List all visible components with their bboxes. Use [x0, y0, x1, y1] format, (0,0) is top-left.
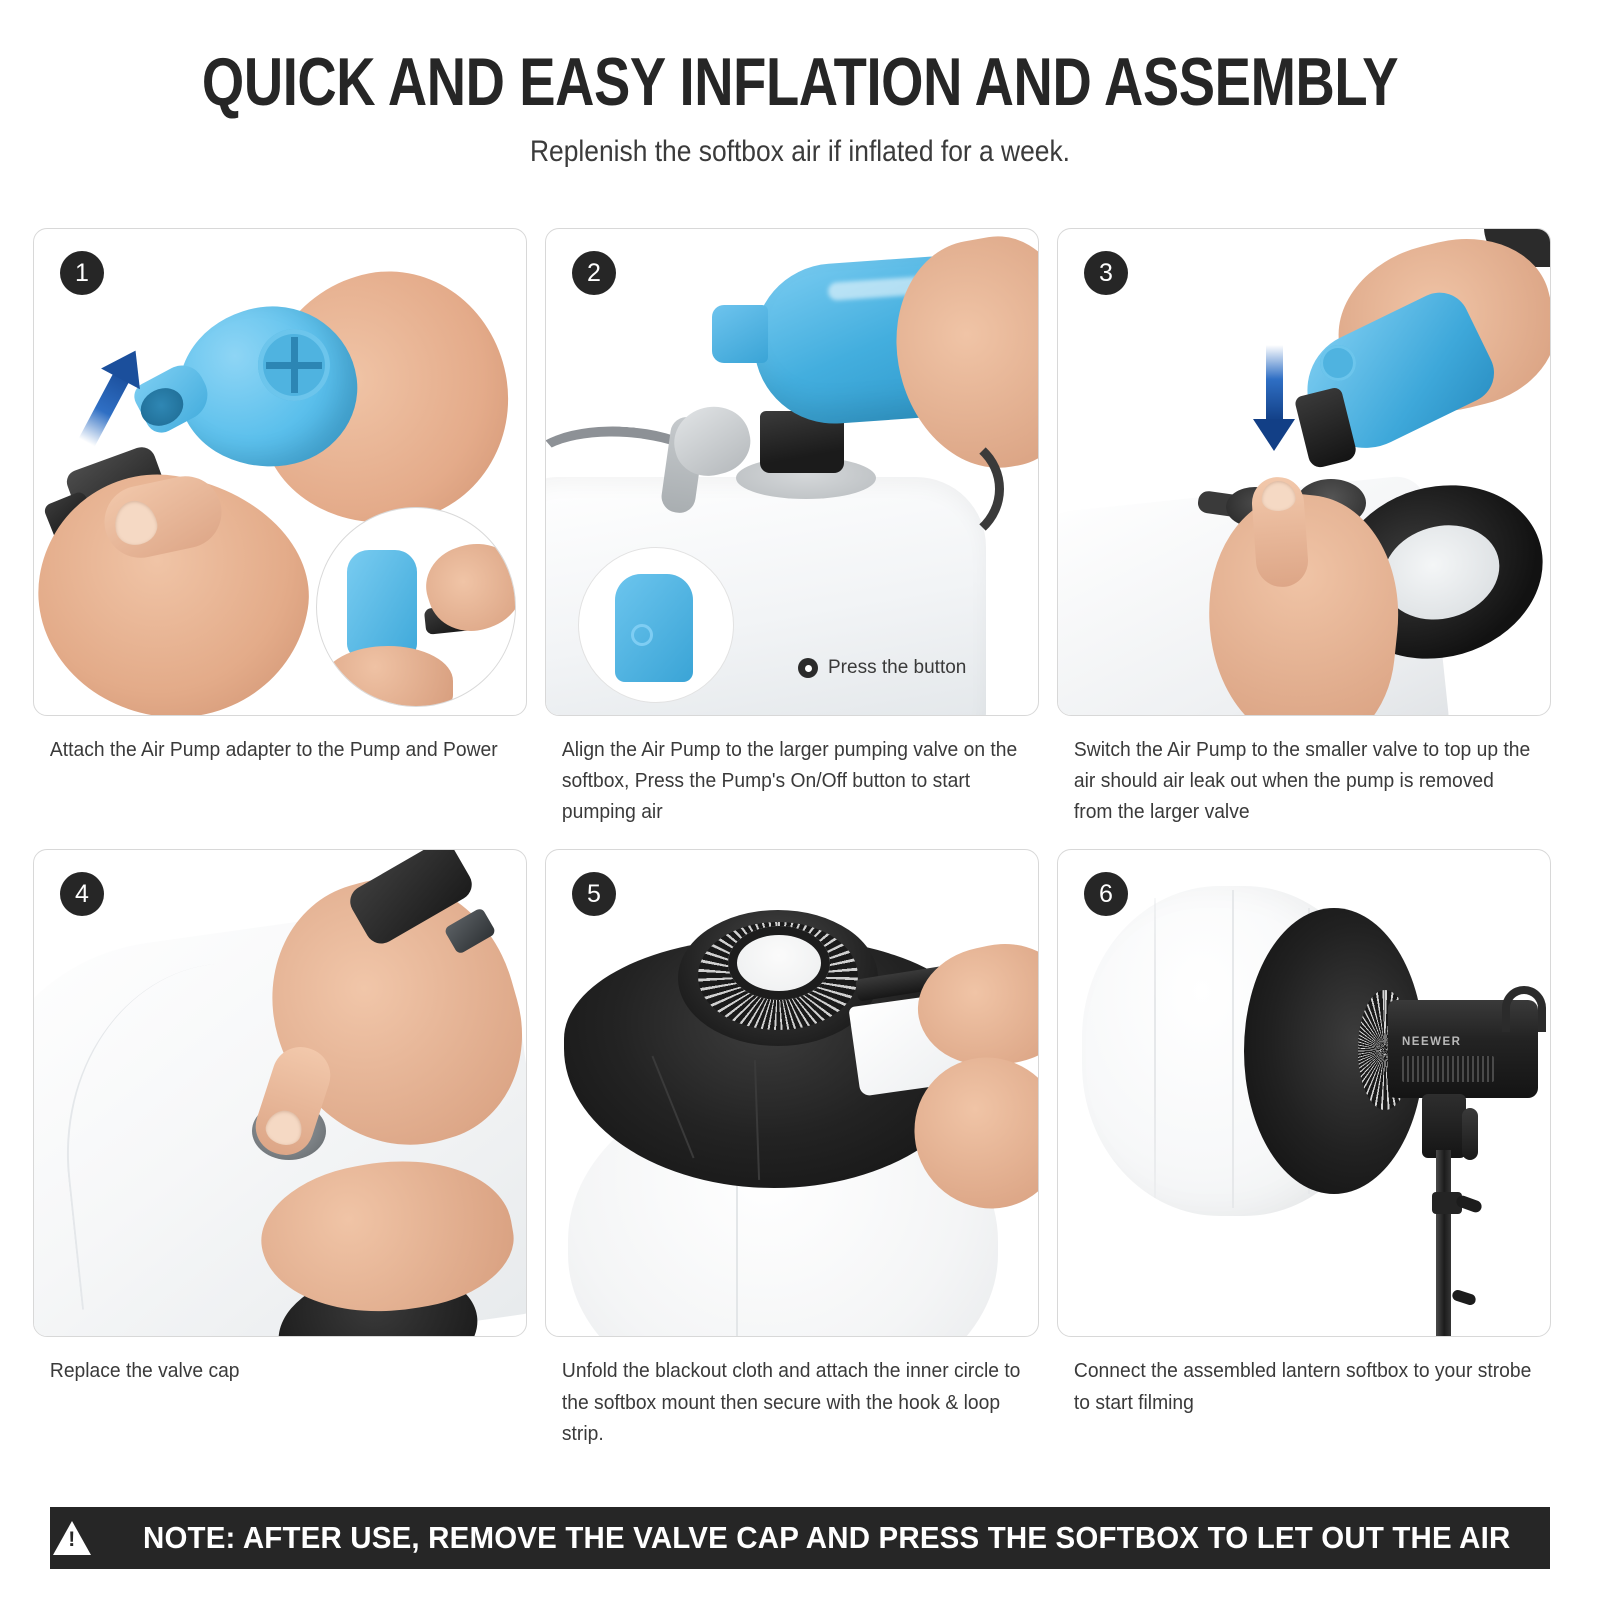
step-3-number-badge: 3 — [1084, 251, 1128, 295]
light-stand-pole — [1436, 1150, 1451, 1337]
step-3-caption: Switch the Air Pump to the smaller valve… — [1057, 734, 1546, 827]
step-2-number-badge: 2 — [572, 251, 616, 295]
inset-hand-lower-shape — [323, 646, 453, 707]
step-5-caption: Unfold the blackout cloth and attach the… — [545, 1355, 1034, 1448]
softbox-mount-inner-circle — [728, 926, 830, 1000]
page-subtitle: Replenish the softbox air if inflated fo… — [96, 135, 1504, 169]
step-6-illustration: NEEWER — [1058, 850, 1550, 1336]
light-stand-head — [1422, 1094, 1466, 1158]
down-arrow-icon — [1266, 345, 1283, 421]
step-1-image-panel: 1 — [33, 228, 527, 716]
steps-grid: 1 — [33, 228, 1567, 1449]
step-1-inset-detail — [316, 507, 516, 707]
step-4-image-panel: 4 — [33, 849, 527, 1337]
step-2-caption: Align the Air Pump to the larger pumping… — [545, 734, 1034, 827]
step-2-image-panel: 2 — [545, 228, 1039, 716]
step-3: 3 — [1057, 228, 1551, 827]
light-stand-knob — [1462, 1108, 1478, 1160]
on-off-button-icon — [631, 624, 653, 646]
step-1-caption: Attach the Air Pump adapter to the Pump … — [33, 734, 522, 765]
page-title: QUICK AND EASY INFLATION AND ASSEMBLY — [160, 46, 1440, 119]
globe-seam-2 — [1232, 890, 1234, 1208]
step-5-illustration — [546, 850, 1038, 1336]
warning-triangle-icon — [53, 1521, 91, 1555]
power-cord — [874, 429, 1004, 549]
step-1-illustration — [34, 229, 526, 715]
step-2: 2 — [545, 228, 1039, 827]
step-2-illustration: Press the button — [546, 229, 1038, 715]
step-6: 6 NEEWER — [1057, 849, 1551, 1448]
press-the-button-label: Press the button — [828, 657, 966, 679]
up-arrow-icon — [79, 369, 132, 446]
strobe-vents — [1402, 1056, 1494, 1082]
fingernail-shape — [1260, 480, 1296, 512]
inset-air-pump — [347, 550, 417, 658]
globe-seam-1 — [1154, 898, 1156, 1198]
button-dot-icon — [798, 658, 818, 678]
step-3-illustration — [1058, 229, 1550, 715]
step-3-image-panel: 3 — [1057, 228, 1551, 716]
step-5-image-panel: 5 — [545, 849, 1039, 1337]
thumbnail-shape — [110, 497, 160, 549]
step-1: 1 — [33, 228, 527, 827]
note-banner-text: NOTE: AFTER USE, REMOVE THE VALVE CAP AN… — [143, 1520, 1510, 1556]
header: QUICK AND EASY INFLATION AND ASSEMBLY Re… — [0, 0, 1600, 169]
air-pump-grille-icon — [258, 329, 330, 401]
index-finger-shape — [1250, 475, 1310, 588]
light-stand-lever-lower — [1451, 1289, 1477, 1307]
step-6-caption: Connect the assembled lantern softbox to… — [1057, 1355, 1546, 1417]
strobe-handle — [1502, 986, 1546, 1032]
note-banner: NOTE: AFTER USE, REMOVE THE VALVE CAP AN… — [50, 1507, 1550, 1569]
step-5: 5 Unfold the blackout cloth and attac — [545, 849, 1039, 1448]
strobe-brand-label: NEEWER — [1402, 1036, 1461, 1048]
step-6-image-panel: 6 NEEWER — [1057, 849, 1551, 1337]
air-pump-grille-icon — [1320, 345, 1356, 381]
press-the-button-annotation: Press the button — [798, 657, 966, 679]
air-pump-side-spout — [712, 305, 768, 363]
inset-air-pump — [615, 574, 693, 682]
step-2-inset-detail — [578, 547, 734, 703]
step-4: 4 Replace the valve cap — [33, 849, 527, 1448]
infographic-page: QUICK AND EASY INFLATION AND ASSEMBLY Re… — [0, 0, 1600, 1600]
step-4-illustration — [34, 850, 526, 1336]
step-4-caption: Replace the valve cap — [33, 1355, 522, 1386]
fingernail-shape — [262, 1106, 307, 1149]
step-1-number-badge: 1 — [60, 251, 104, 295]
